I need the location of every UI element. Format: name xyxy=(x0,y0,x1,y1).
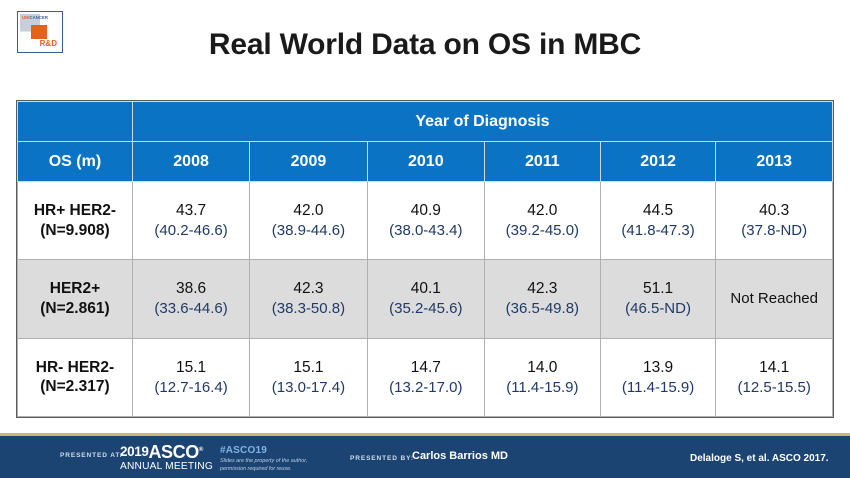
cell-value: 15.1 xyxy=(293,359,323,376)
table-cell: 38.6 (33.6-44.6) xyxy=(132,260,249,338)
cell-value: 51.1 xyxy=(643,280,673,297)
row-label-cell: HR- HER2- (N=2.317) xyxy=(18,338,133,416)
cell-confidence-interval: (12.7-16.4) xyxy=(133,378,249,397)
cell-confidence-interval: (12.5-15.5) xyxy=(716,378,832,397)
logo-wordmark-uni: UNI xyxy=(22,15,30,20)
row-label-cell: HER2+ (N=2.861) xyxy=(18,260,133,338)
table-body: HR+ HER2- (N=9.908) 43.7 (40.2-46.6) 42.… xyxy=(18,182,833,417)
table-cell: 13.9 (11.4-15.9) xyxy=(600,338,716,416)
table-header-year-2009: 2009 xyxy=(250,142,367,182)
cell-confidence-interval: (13.0-17.4) xyxy=(250,378,366,397)
slide-title: Real World Data on OS in MBC xyxy=(0,28,850,62)
cell-confidence-interval: (11.4-15.9) xyxy=(485,378,600,397)
cell-value: 40.9 xyxy=(411,202,441,219)
table-cell: 40.3 (37.8-ND) xyxy=(716,182,833,260)
footer-citation: Delaloge S, et al. ASCO 2017. xyxy=(690,453,829,464)
cell-value: 38.6 xyxy=(176,280,206,297)
cell-confidence-interval: (41.8-47.3) xyxy=(601,221,716,240)
table-header-year-2013: 2013 xyxy=(716,142,833,182)
table-cell: 51.1 (46.5-ND) xyxy=(600,260,716,338)
footer-bar: PRESENTED AT: 2019ASCO® ANNUAL MEETING #… xyxy=(0,436,850,478)
cell-value: 40.1 xyxy=(411,280,441,297)
row-label-cell: HR+ HER2- (N=9.908) xyxy=(18,182,133,260)
cell-value: 15.1 xyxy=(176,359,206,376)
footer-presented-at-label: PRESENTED AT: xyxy=(60,452,123,459)
cell-value: 14.0 xyxy=(527,359,557,376)
os-data-table-wrapper: Year of Diagnosis OS (m) 2008 2009 2010 … xyxy=(16,100,834,418)
cell-value: 40.3 xyxy=(759,202,789,219)
cell-confidence-interval: (35.2-45.6) xyxy=(368,299,484,318)
footer-rights-notice: Slides are the property of the author, p… xyxy=(220,458,340,474)
table-cell: 43.7 (40.2-46.6) xyxy=(132,182,249,260)
cell-value: 42.3 xyxy=(293,280,323,297)
cell-value: 44.5 xyxy=(643,202,673,219)
cell-confidence-interval: (40.2-46.6) xyxy=(133,221,249,240)
logo-wordmark-cancer: CANCER xyxy=(30,15,49,20)
table-cell: 40.1 (35.2-45.6) xyxy=(367,260,484,338)
cell-value: 42.3 xyxy=(527,280,557,297)
cell-confidence-interval: (33.6-44.6) xyxy=(133,299,249,318)
cell-confidence-interval: (36.5-49.8) xyxy=(485,299,600,318)
row-label-line1: HER2+ xyxy=(18,279,132,299)
table-header-os-m: OS (m) xyxy=(18,142,133,182)
asco-annual-meeting-logo: 2019ASCO® ANNUAL MEETING xyxy=(120,443,213,472)
table-header-year-2010: 2010 xyxy=(367,142,484,182)
asco-logo-name: ASCO xyxy=(148,442,198,462)
row-label-line2: (N=2.861) xyxy=(18,299,132,319)
table-row: HER2+ (N=2.861) 38.6 (33.6-44.6) 42.3 (3… xyxy=(18,260,833,338)
asco-logo-year: 2019 xyxy=(120,444,148,459)
row-label-line2: (N=2.317) xyxy=(18,377,132,397)
table-group-header-row: Year of Diagnosis xyxy=(18,102,833,142)
table-cell: 42.0 (39.2-45.0) xyxy=(484,182,600,260)
table-cell: 42.0 (38.9-44.6) xyxy=(250,182,367,260)
table-cell: 14.7 (13.2-17.0) xyxy=(367,338,484,416)
table-group-header-year-of-diagnosis: Year of Diagnosis xyxy=(132,102,832,142)
cell-value: 42.0 xyxy=(293,202,323,219)
table-cell: 42.3 (38.3-50.8) xyxy=(250,260,367,338)
cell-confidence-interval: (11.4-15.9) xyxy=(601,378,716,397)
table-header-year-2008: 2008 xyxy=(132,142,249,182)
cell-confidence-interval: (38.9-44.6) xyxy=(250,221,366,240)
table-row: HR+ HER2- (N=9.908) 43.7 (40.2-46.6) 42.… xyxy=(18,182,833,260)
cell-value: 43.7 xyxy=(176,202,206,219)
cell-value: 14.1 xyxy=(759,359,789,376)
cell-confidence-interval: (38.0-43.4) xyxy=(368,221,484,240)
asco-logo-line1: 2019ASCO® xyxy=(120,443,213,461)
table-column-header-row: OS (m) 2008 2009 2010 2011 2012 2013 xyxy=(18,142,833,182)
table-cell: 42.3 (36.5-49.8) xyxy=(484,260,600,338)
table-cell: 14.0 (11.4-15.9) xyxy=(484,338,600,416)
row-label-line1: HR+ HER2- xyxy=(18,201,132,221)
table-cell: 40.9 (38.0-43.4) xyxy=(367,182,484,260)
footer-rights-line2: permission required for reuse. xyxy=(220,466,340,474)
cell-value-not-reached: Not Reached xyxy=(730,290,818,307)
table-header-year-2012: 2012 xyxy=(600,142,716,182)
table-cell: 44.5 (41.8-47.3) xyxy=(600,182,716,260)
cell-confidence-interval: (39.2-45.0) xyxy=(485,221,600,240)
table-cell: 14.1 (12.5-15.5) xyxy=(716,338,833,416)
cell-confidence-interval: (13.2-17.0) xyxy=(368,378,484,397)
row-label-line2: (N=9.908) xyxy=(18,221,132,241)
footer-hashtag: #ASCO19 xyxy=(220,445,267,456)
asco-logo-registered-icon: ® xyxy=(199,447,203,453)
logo-wordmark: UNICANCER xyxy=(22,16,48,20)
table-cell: Not Reached xyxy=(716,260,833,338)
cell-confidence-interval: (37.8-ND) xyxy=(716,221,832,240)
cell-value: 14.7 xyxy=(411,359,441,376)
cell-confidence-interval: (46.5-ND) xyxy=(601,299,716,318)
os-data-table: Year of Diagnosis OS (m) 2008 2009 2010 … xyxy=(17,101,833,417)
table-row: HR- HER2- (N=2.317) 15.1 (12.7-16.4) 15.… xyxy=(18,338,833,416)
footer-rights-line1: Slides are the property of the author, xyxy=(220,458,340,466)
row-label-line1: HR- HER2- xyxy=(18,358,132,378)
table-cell: 15.1 (12.7-16.4) xyxy=(132,338,249,416)
footer-speaker-name: Carlos Barrios MD xyxy=(412,450,508,462)
footer-presented-by-label: PRESENTED BY: xyxy=(350,455,414,462)
asco-logo-subtitle: ANNUAL MEETING xyxy=(120,462,213,472)
table-header-year-2011: 2011 xyxy=(484,142,600,182)
cell-value: 13.9 xyxy=(643,359,673,376)
table-corner-blank xyxy=(18,102,133,142)
cell-value: 42.0 xyxy=(527,202,557,219)
cell-confidence-interval: (38.3-50.8) xyxy=(250,299,366,318)
table-cell: 15.1 (13.0-17.4) xyxy=(250,338,367,416)
table-head: Year of Diagnosis OS (m) 2008 2009 2010 … xyxy=(18,102,833,182)
